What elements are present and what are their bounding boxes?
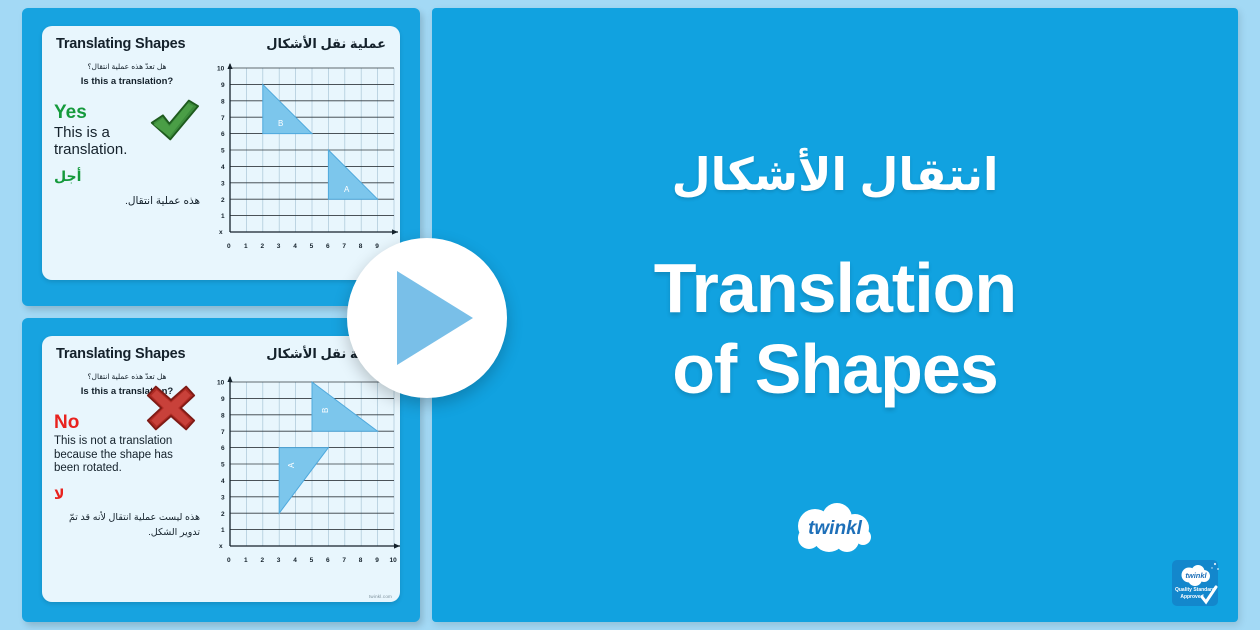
svg-text:1: 1 [221,213,225,220]
answer-text-arabic: هذه ليست عملية انتقال لأنه قد تمّ تدوير … [54,511,200,540]
panel-title-arabic: انتقال الأشكال [432,148,1238,201]
answer-block: No This is not a translation because the… [54,413,200,540]
svg-text:A: A [287,462,296,468]
svg-text:4: 4 [293,243,297,250]
svg-text:2: 2 [261,243,265,250]
svg-text:1: 1 [244,557,248,564]
svg-text:0: 0 [227,557,231,564]
svg-text:5: 5 [310,243,314,250]
svg-text:7: 7 [221,115,225,122]
slide-graph-column: B A 10 987 654 [200,58,400,272]
svg-text:7: 7 [342,557,346,564]
answer-text-arabic: هذه عملية انتقال. [54,194,200,210]
slide-text-column: هل تعدّ هذه عملية انتقال؟ Is this a tran… [54,368,200,594]
slide-body: هل تعدّ هذه عملية انتقال؟ Is this a tran… [42,52,400,272]
svg-text:8: 8 [221,412,225,419]
slide-footer-url: twinkl.com [369,594,392,599]
panel-title-english-line2: of Shapes [432,329,1238,410]
svg-text:9: 9 [221,396,225,403]
svg-text:6: 6 [221,131,225,138]
svg-text:3: 3 [221,494,225,501]
svg-text:6: 6 [221,445,225,452]
svg-text:4: 4 [221,164,225,171]
svg-text:A: A [344,185,350,194]
play-video-button[interactable] [347,238,507,398]
question-arabic: هل تعدّ هذه عملية انتقال؟ [54,372,200,381]
svg-text:1: 1 [244,243,248,250]
svg-text:9: 9 [375,243,379,250]
slide-graph-column: B A 10 987 654 321 [200,368,400,594]
red-cross-icon [144,383,198,433]
question-arabic: هل تعدّ هذه عملية انتقال؟ [54,62,200,71]
svg-text:twinkl: twinkl [808,518,863,539]
svg-text:5: 5 [310,557,314,564]
answer-text-english: This is not a translation because the sh… [54,435,186,476]
svg-text:4: 4 [293,557,297,564]
svg-text:4: 4 [221,478,225,485]
slide-title-english: Translating Shapes [56,36,185,52]
svg-text:x: x [219,543,223,550]
quality-standard-approved-badge: twinkl Quality Standard Approved [1170,556,1222,610]
svg-text:10: 10 [217,380,225,387]
svg-text:2: 2 [221,197,225,204]
slide-text-column: هل تعدّ هذه عملية انتقال؟ Is this a tran… [54,58,200,272]
svg-text:B: B [321,408,330,413]
svg-text:5: 5 [221,148,225,155]
svg-text:10: 10 [390,557,398,564]
slide-content-1: Translating Shapes عملية نقل الأشكال هل … [42,26,400,280]
svg-text:10: 10 [217,66,225,73]
svg-text:8: 8 [359,243,363,250]
slide-thumbnail-1[interactable]: Translating Shapes عملية نقل الأشكال هل … [22,8,420,306]
svg-text:x: x [219,229,223,236]
svg-text:1: 1 [221,527,225,534]
svg-text:Quality Standard: Quality Standard [1175,587,1215,593]
svg-text:7: 7 [221,429,225,436]
svg-text:6: 6 [326,557,330,564]
green-check-icon [146,95,202,145]
slide-title-arabic: عملية نقل الأشكال [266,36,386,52]
svg-text:8: 8 [221,98,225,105]
svg-text:2: 2 [221,511,225,518]
svg-text:3: 3 [277,557,281,564]
slide-header: Translating Shapes عملية نقل الأشكال [42,26,400,52]
svg-text:B: B [278,119,283,128]
svg-text:9: 9 [221,82,225,89]
slide-content-2: Translating Shapes عملية نقل الأشكال هل … [42,336,400,602]
twinkl-cloud-logo: twinkl [783,500,887,560]
svg-text:Approved: Approved [1180,594,1203,600]
panel-title-english-line1: Translation [432,248,1238,329]
play-triangle-icon [397,271,473,365]
slide-title-english: Translating Shapes [56,346,185,362]
svg-text:5: 5 [221,462,225,469]
coordinate-grid-chart-1: B A 10 987 654 [204,58,400,258]
question-english: Is this a translation? [54,76,200,87]
svg-text:7: 7 [342,243,346,250]
svg-text:2: 2 [261,557,265,564]
answer-word-arabic: لا [54,486,200,503]
answer-block: Yes This is a translation. أجل هذه عملية… [54,103,200,210]
presentation-preview: Translating Shapes عملية نقل الأشكال هل … [0,0,1260,630]
svg-text:3: 3 [277,243,281,250]
coordinate-grid-chart-2: B A 10 987 654 321 [204,368,400,574]
answer-word-arabic: أجل [54,168,200,185]
svg-text:9: 9 [375,557,379,564]
svg-text:6: 6 [326,243,330,250]
slide-body: هل تعدّ هذه عملية انتقال؟ Is this a tran… [42,362,400,594]
title-panel: انتقال الأشكال Translation of Shapes twi… [432,8,1238,622]
svg-text:8: 8 [359,557,363,564]
svg-text:3: 3 [221,180,225,187]
panel-title-english: Translation of Shapes [432,248,1238,409]
slide-header: Translating Shapes عملية نقل الأشكال [42,336,400,362]
svg-text:twinkl: twinkl [1185,571,1207,580]
svg-text:0: 0 [227,243,231,250]
